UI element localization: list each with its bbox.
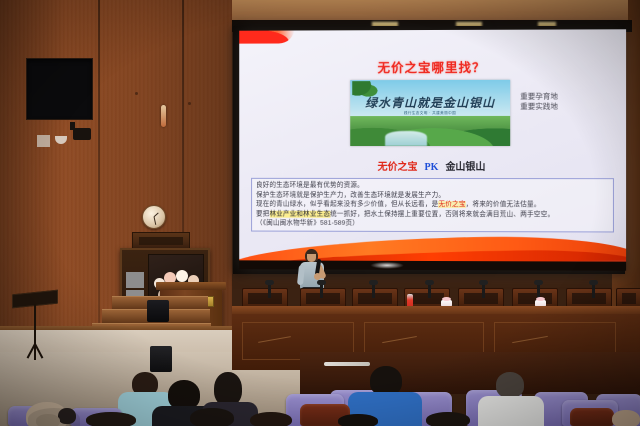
audience-head bbox=[496, 372, 524, 398]
desk-microphone-icon bbox=[482, 283, 485, 298]
presenter-face bbox=[307, 254, 316, 262]
wall-plate bbox=[37, 135, 50, 147]
desk-microphone-icon bbox=[268, 283, 271, 298]
pk-middle-term: PK bbox=[425, 162, 439, 173]
audience-head-foreground bbox=[250, 412, 292, 426]
desk-microphone-icon bbox=[320, 283, 323, 298]
slide-banner-image: 绿水青山就是金山银山 践行生态文明 · 共建美丽中国 bbox=[350, 80, 510, 146]
slide-quote-box: 良好的生态环境是最有优势的资源。 保护生态环境就是保护生产力，改善生态环境就是发… bbox=[251, 178, 614, 233]
clock-minute-hand bbox=[153, 217, 156, 225]
audience-shoulders bbox=[478, 396, 544, 426]
quote-line-3-highlight: 无价之宝 bbox=[438, 201, 465, 208]
quote-line-4-highlight: 林业产业和林业生态 bbox=[269, 210, 330, 217]
slide-pk-line: 无价之宝PK金山银山 bbox=[239, 158, 626, 173]
wall-mounted-display bbox=[26, 58, 93, 120]
pk-right-term: 金山银山 bbox=[445, 162, 485, 173]
audience-area bbox=[0, 352, 640, 426]
side-note-2: 重要实践地 bbox=[520, 102, 558, 112]
banner-calligraphy: 绿水青山就是金山银山 bbox=[350, 94, 510, 111]
audience-head-foreground bbox=[426, 412, 470, 426]
wall-fixture-dot bbox=[135, 92, 138, 95]
music-stand-pole bbox=[34, 304, 36, 348]
audience-seat-wood bbox=[570, 408, 614, 426]
slide-title: 无价之宝哪里找？ bbox=[239, 56, 626, 76]
banner-subtitle: 践行生态文明 · 共建美丽中国 bbox=[350, 111, 510, 116]
audience-head bbox=[214, 372, 242, 406]
audience-head-foreground bbox=[338, 414, 378, 426]
quote-source: （《闽山闽水物华新》581-589页） bbox=[256, 219, 609, 229]
wall-camera-icon bbox=[73, 128, 91, 140]
quote-line-4-after: 统一抓好，把水土保持摆上重要位置，否则将来就会满目荒山、两手空空。 bbox=[330, 211, 554, 218]
audience-head-foreground bbox=[190, 408, 234, 426]
pk-left-term: 无价之宝 bbox=[378, 162, 418, 173]
side-note-1: 重要孕育地 bbox=[520, 92, 558, 102]
slide-corner-accent bbox=[239, 29, 294, 43]
projector-glare bbox=[370, 262, 404, 269]
banner-mountains bbox=[350, 116, 510, 146]
wall-handle bbox=[161, 105, 166, 127]
audience-hair bbox=[28, 408, 80, 426]
quote-line-3: 现在的青山绿水，似乎看起来没有多少价值，但从长远看，是无价之宝，将来的价值无法估… bbox=[256, 200, 609, 210]
rack-unit bbox=[126, 272, 144, 288]
desk-microphone-icon bbox=[537, 283, 540, 298]
quote-line-3-before: 现在的青山绿水，似乎看起来没有多少价值，但从长远看，是 bbox=[256, 201, 438, 208]
banner-waterfall bbox=[385, 131, 427, 146]
wall-clock bbox=[142, 205, 166, 229]
slide-side-notes: 重要孕育地 重要实践地 bbox=[520, 92, 558, 112]
quote-line-1: 良好的生态环境是最有优势的资源。 bbox=[256, 181, 609, 191]
audience-head-foreground bbox=[612, 410, 640, 426]
desk-microphone-icon bbox=[592, 283, 595, 298]
desk-microphone-icon bbox=[428, 283, 431, 298]
desk-microphone-icon bbox=[372, 283, 375, 298]
quote-line-3-after: ，将来的价值无法估量。 bbox=[466, 201, 541, 208]
audience-head-foreground bbox=[86, 412, 136, 426]
wall-seam bbox=[98, 0, 100, 330]
wall-fixture-dot bbox=[188, 102, 191, 105]
floor-speaker-box bbox=[147, 300, 169, 322]
quote-line-2: 保护生态环境就是保护生产力，改善生态环境就是发展生产力。 bbox=[256, 190, 609, 200]
projection-screen: 无价之宝哪里找？ 绿水青山就是金山银山 践行生态文明 · 共建美丽中国 重要孕育… bbox=[239, 29, 626, 270]
presenter-hand bbox=[314, 273, 321, 280]
quote-line-4-before: 要把 bbox=[256, 210, 269, 217]
podium-top bbox=[156, 282, 226, 290]
presentation-photo-scene: 无价之宝哪里找？ 绿水青山就是金山银山 践行生态文明 · 共建美丽中国 重要孕育… bbox=[0, 0, 640, 426]
